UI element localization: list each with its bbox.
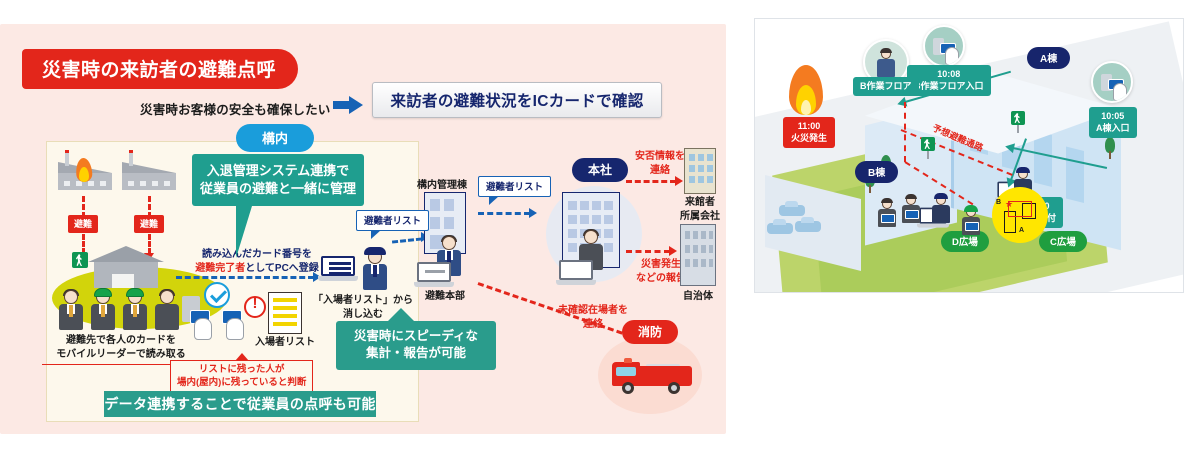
remaining-people-note: リストに残った人が 場内(屋内)に残っていると判断 [170,360,313,395]
factory-window [152,181,158,186]
parked-car [779,205,805,216]
register-note-line-1: 読み込んだカード番号を [182,248,332,262]
shelter-caption-line-2: モバイルリーダーで読み取る [36,348,206,362]
plaza-person [901,195,921,223]
minimap-label-a: A [1019,227,1024,234]
evacuee-person [154,290,180,330]
plaza-guard-person [931,195,951,223]
factory-window [64,181,70,186]
data-integration-banner: データ連携することで従業員の点呼も可能 [104,391,376,417]
safety-info-arrow [675,176,683,186]
tag-tail [371,230,381,239]
laptop-base [318,276,358,281]
shelter-roof [88,246,164,262]
disaster-report-dash [626,250,670,253]
shelter-caption-line-1: 避難先で各人のカードを [36,334,206,348]
b-floor-label-tag: B作業フロア [853,77,919,96]
evacuation-minimap: B A ★ [992,187,1048,243]
register-dash-arrow [176,276,314,279]
security-guard-person [362,250,388,290]
shelter-door [112,274,134,288]
plaza-person [877,199,897,227]
alert-exclamation-icon [244,296,266,318]
visitor-company-line-1: 来館者 [668,196,732,210]
municipality-building [680,224,716,286]
evacuee-list-tag-text: 避難者リスト [486,182,543,193]
factory-window [128,181,134,186]
speedy-report-line-1: 災害時にスピーディな [340,328,492,345]
hand-icon [194,318,212,340]
shelter-building [88,246,164,288]
emergency-exit-icon [921,137,935,151]
list-flow-dash-2 [478,212,530,215]
guard-caption-line-1: 「入場者リスト」から [308,294,418,308]
need-statement: 災害時お客様の安全も確保したい [140,99,331,118]
left-diagram-panel: 災害時の来訪者の避難点呼 災害時お客様の安全も確保したい 来訪者の避難状況をIC… [0,24,726,434]
factory-window [100,181,106,186]
guard-laptop-icon [318,256,358,282]
headquarters-pill: 本社 [572,158,628,182]
right-arrow-icon [333,96,363,114]
visitor-company-line-2: 所属会社 [668,210,732,224]
register-note-emphasis: 避難完了者 [195,263,245,274]
fire-flame-icon [787,59,827,115]
building-b-pill: B棟 [855,161,898,183]
site-label-pill: 構内 [236,124,314,152]
plaza-worker-person [961,207,981,235]
tag-tail [489,196,499,205]
gate-tag-a-entry: 10:05 A棟入口 [1089,107,1137,138]
register-note-line-2-rest: としてPCへ登録 [245,263,319,274]
gate-tag-b-floor: 10:08 B作業フロア入口 [907,65,991,96]
gate-a-entry-label: A棟入口 [1096,122,1130,134]
headquarters-laptop-icon [556,260,596,286]
hq-laptop-icon [414,262,454,288]
shelter-caption: 避難先で各人のカードを モバイルリーダーで読み取る [36,334,206,361]
minimap-label-b: B [996,199,1001,206]
site-admin-building-label: 構内管理棟 [402,179,482,193]
remaining-note-line-2: 場内(屋内)に残っていると判断 [177,377,306,390]
factory-window [140,181,146,186]
gate-b-floor-label: B作業フロア入口 [914,80,984,92]
isometric-illustration: 11:00 火災発生 10:08 B作業フロア入口 10:05 A棟入口 10:… [754,18,1184,293]
parked-car [795,221,821,232]
expected-evacuation-route [904,102,906,162]
fire-time: 11:00 [791,120,827,132]
emergency-exit-icon [72,252,88,268]
list-flow-arrow-2 [529,208,537,218]
gate-a-entry-time: 10:05 [1096,110,1130,122]
speedy-report-callout: 災害時にスピーディな 集計・報告が可能 [336,321,496,370]
municipality-label: 自治体 [672,290,724,304]
visitor-company-label: 来館者 所属会社 [668,196,732,223]
minimap-fire-star: ★ [1005,200,1013,209]
evacuee-list-tag-1: 避難者リスト [356,210,429,231]
callout-line-2: 従業員の避難と一緒に管理 [198,180,358,198]
fire-occurrence-tag: 11:00 火災発生 [783,117,835,148]
factory-chimney [65,150,69,166]
gate-reader-pin-a-entry [1091,61,1133,103]
evacuee-list-tag-2: 避難者リスト [478,176,551,197]
evacuee-person [122,290,148,330]
callout-line-1: 入退管理システム連携で [198,162,358,180]
fire-label: 火災発生 [791,132,827,144]
factory-window [164,181,170,186]
check-bubble-icon [204,282,230,308]
emergency-exit-icon [1011,111,1025,125]
evacuation-chip-1: 避難 [68,215,98,233]
factory-chimney [129,150,133,166]
entrant-list-label: 入場者リスト [252,336,318,350]
visitor-company-building [684,148,716,194]
factory-building-2 [122,160,176,190]
plaza-c-pill: C広場 [1039,231,1087,252]
evacuee-list-tag-text: 避難者リスト [364,216,421,227]
register-note: 読み込んだカード番号を 避難完了者としてPCへ登録 [182,248,332,276]
callout-tail [388,308,414,321]
solution-callout-text: 来訪者の避難状況をICカードで確認 [390,89,643,111]
parked-car [767,223,793,234]
evacuation-path-line [82,234,85,254]
evacuee-person [90,290,116,330]
entrant-list-document [268,292,302,334]
fire-department-pill: 消防 [622,320,678,344]
right-case-panel: 11:00 火災発生 10:08 B作業フロア入口 10:05 A棟入口 10:… [750,0,1185,450]
gate-b-floor-time: 10:08 [914,68,984,80]
note-pointer [235,353,249,361]
hand-icon [226,318,244,340]
guard-cap-icon [364,247,386,255]
tree-icon [1103,137,1117,159]
solution-callout-box: 来訪者の避難状況をICカードで確認 [372,82,662,118]
building-a-pill: A棟 [1027,47,1070,69]
laptop-screen [321,256,355,276]
speedy-report-line-2: 集計・報告が可能 [340,345,492,362]
fire-flame-icon [74,154,94,182]
evacuee-person [58,290,84,330]
system-integration-callout: 入退管理システム連携で 従業員の避難と一緒に管理 [192,154,364,206]
remaining-note-line-1: リストに残った人が [177,364,306,377]
gate-reader-pin-b-floor [923,25,965,67]
evacuation-hq-label: 避難本部 [412,290,478,304]
evacuation-chip-2: 避難 [134,215,164,233]
safety-info-dash [626,180,676,183]
fire-truck-icon [612,358,692,392]
callout-tail [236,206,252,258]
page-root: 災害時の来訪者の避難点呼 災害時お客様の安全も確保したい 来訪者の避難状況をIC… [0,0,1185,450]
disaster-report-arrow [669,246,677,256]
section-ribbon-title: 災害時の来訪者の避難点呼 [22,49,298,89]
